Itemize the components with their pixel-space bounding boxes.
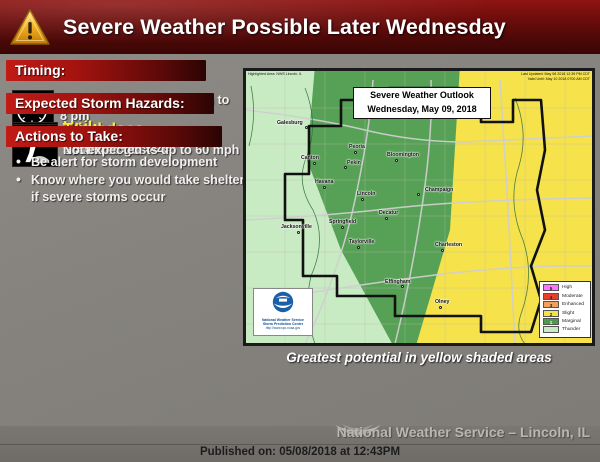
city-dot: [354, 151, 357, 154]
legend-swatch: 3: [543, 301, 559, 308]
city-dot: [297, 231, 300, 234]
page-title: Severe Weather Possible Later Wednesday: [63, 9, 583, 45]
legend-label: High: [562, 285, 572, 290]
legend-swatch: 5: [543, 284, 559, 291]
legend-swatch: [543, 326, 559, 333]
header-banner: Severe Weather Possible Later Wednesday: [0, 0, 600, 54]
map-corner-right-text: Last Updated: May 08 2018 12:39 PM CDT V…: [521, 72, 590, 81]
footer-published: Published on: 05/08/2018 at 12:43PM: [0, 446, 600, 458]
legend-row: 3 Enhanced: [543, 300, 587, 308]
legend-row: 4 Moderate: [543, 292, 587, 300]
city-dot: [341, 226, 344, 229]
legend-row: Thunder: [543, 326, 587, 334]
outlook-title-box: Severe Weather Outlook Wednesday, May 09…: [353, 87, 491, 119]
city-dot: [361, 198, 364, 201]
city-dot: [344, 166, 347, 169]
legend-row: 1 Marginal: [543, 317, 587, 325]
actions-list: Be alert for storm development Know wher…: [12, 154, 252, 207]
city-label: Havana: [315, 179, 333, 185]
map-corner-left-text: Highlighted Area: NWS Lincoln, IL: [248, 72, 302, 77]
city-label: Galesburg: [277, 120, 303, 126]
city-label: Lincoln: [357, 191, 375, 197]
city-label: Peoria: [349, 144, 365, 150]
city-label: Decatur: [379, 210, 398, 216]
hazards-heading: Expected Storm Hazards:: [15, 95, 185, 111]
city-label: Jacksonville: [281, 224, 312, 230]
city-label: Bloomington: [387, 152, 419, 158]
city-label: Effingham: [385, 279, 410, 285]
weather-graphic: Severe Weather Possible Later Wednesday …: [0, 0, 600, 462]
outlook-title-line1: Severe Weather Outlook: [354, 88, 490, 102]
city-label: Charleston: [435, 242, 462, 248]
legend-row: 5 High: [543, 284, 587, 292]
legend-swatch: 1: [543, 318, 559, 325]
city-label: Champaign: [425, 187, 453, 193]
info-sidebar: Timing: Greatest threat from 1 pm: [0, 54, 240, 426]
legend-swatch: 4: [543, 293, 559, 300]
spc-logo: National Weather Service Storm Predictio…: [253, 288, 313, 336]
map-caption: Greatest potential in yellow shaded area…: [243, 350, 595, 365]
spc-logo-url: http://www.spc.noaa.gov: [254, 326, 312, 331]
outlook-map[interactable]: Highlighted Area: NWS Lincoln, IL Last U…: [243, 68, 595, 346]
action-item: Be alert for storm development: [12, 154, 252, 172]
legend-label: Thunder: [562, 327, 580, 332]
legend-label: Enhanced: [562, 302, 584, 307]
timing-heading-bar: Timing:: [6, 60, 206, 81]
footer-divider: [0, 444, 600, 445]
timing-heading: Timing:: [15, 62, 65, 78]
warning-triangle-icon: [10, 9, 50, 46]
outlook-title-line2: Wednesday, May 09, 2018: [354, 102, 490, 116]
legend-label: Marginal: [562, 319, 581, 324]
city-dot: [323, 186, 326, 189]
city-dot: [305, 126, 308, 129]
noaa-seal-icon: [270, 291, 296, 313]
footer: National Weather Service – Lincoln, IL P…: [0, 426, 600, 462]
city-label: Pekin: [347, 160, 361, 166]
hazards-heading-bar: Expected Storm Hazards:: [6, 93, 214, 114]
city-label: Olney: [435, 299, 449, 305]
city-dot: [385, 217, 388, 220]
city-dot: [313, 162, 316, 165]
legend-label: Slight: [562, 311, 574, 316]
legend-row: 2 Slight: [543, 309, 587, 317]
city-dot: [357, 246, 360, 249]
city-dot: [439, 306, 442, 309]
legend-label: Moderate: [562, 294, 583, 299]
actions-heading: Actions to Take:: [15, 128, 123, 144]
footer-office: National Weather Service – Lincoln, IL: [337, 424, 590, 440]
city-dot: [417, 193, 420, 196]
city-label: Canton: [301, 155, 319, 161]
city-dot: [395, 159, 398, 162]
city-label: Springfield: [329, 219, 356, 225]
actions-heading-bar: Actions to Take:: [6, 126, 222, 147]
city-dot: [441, 249, 444, 252]
city-label: Taylorville: [349, 239, 374, 245]
legend-swatch: 2: [543, 310, 559, 317]
city-dot: [401, 285, 404, 288]
map-legend: 5 High 4 Moderate 3 Enhanced 2 Slight 1 …: [539, 281, 591, 338]
action-item: Know where you would take shelter if sev…: [12, 172, 252, 207]
